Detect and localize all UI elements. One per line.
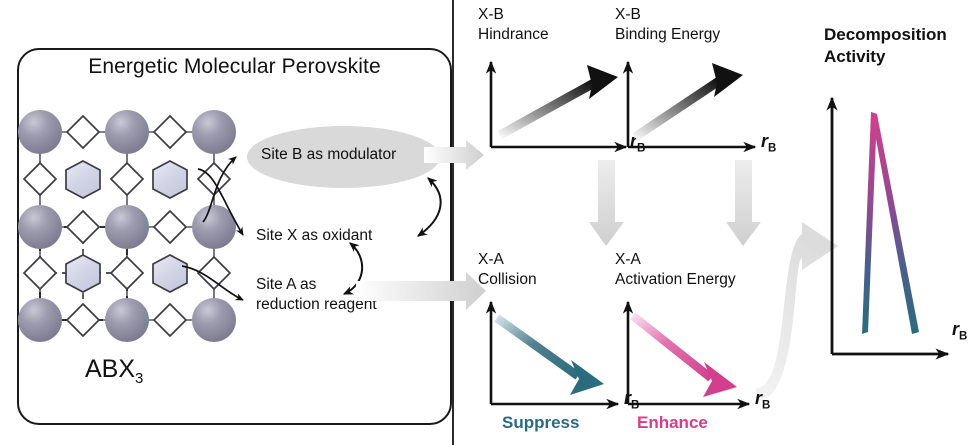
chart-xlabel-x-b-binding-energy: rB [761, 131, 776, 155]
chart-series-x-a-collision [497, 318, 604, 395]
section-divider [452, 0, 454, 445]
chart-xlabel-x-a-activation-energy: rB [755, 388, 770, 412]
perovskite-lattice [22, 108, 232, 343]
chart-series-x-a-activation-energy [633, 316, 737, 397]
chart-xlabel-decomposition-activity: rB [952, 319, 967, 343]
xlabel-symbol: r [761, 131, 768, 151]
chart-x-b-binding-energy: X-B Binding Energy [615, 5, 815, 175]
xlabel-subscript: B [768, 143, 776, 155]
chart-title-line1: X-B [478, 5, 549, 25]
chart-title-line1: X-A [478, 250, 537, 270]
chart-series-decomposition-activity [862, 112, 919, 334]
chart-title-line1: X-A [615, 250, 736, 270]
chart-title-x-b-binding-energy: X-B Binding Energy [615, 5, 720, 44]
xlabel-subscript: B [762, 400, 770, 412]
chart-title-x-b-hindrance: X-B Hindrance [478, 5, 549, 44]
chart-title-line2: Activity [824, 46, 947, 68]
site-b-label: Site B as modulator [261, 145, 396, 165]
chart-title-line2: Hindrance [478, 25, 549, 45]
chart-series-x-b-binding-energy [635, 63, 743, 137]
site-a-label: Site A as reduction reagent [256, 275, 377, 315]
chart-series-x-b-hindrance [500, 65, 618, 135]
site-x-label: Site X as oxidant [256, 226, 372, 246]
chart-title-line2: Collision [478, 270, 537, 290]
site-a-label-line1: Site A as [256, 275, 377, 295]
site-a-label-line2: reduction reagent [256, 295, 377, 315]
status-badge-enhance: Enhance [637, 413, 708, 433]
chart-title-decomposition-activity: Decomposition Activity [824, 24, 947, 67]
figure-root: Energetic Molecular Perovskite [0, 0, 976, 445]
xlabel-subscript: B [959, 331, 967, 343]
chart-title-line1: Decomposition [824, 24, 947, 46]
chart-title-line2: Activation Energy [615, 270, 736, 290]
xlabel-symbol: r [952, 319, 959, 339]
chart-title-x-a-collision: X-A Collision [478, 250, 537, 289]
chart-x-a-activation-energy: X-A Activation Energy [615, 250, 825, 445]
chart-title-line2: Binding Energy [615, 25, 720, 45]
formula-subscript: 3 [135, 370, 143, 387]
chart-axes [832, 98, 948, 354]
xlabel-symbol: r [755, 388, 762, 408]
formula-text: ABX [85, 355, 135, 383]
page-title: Energetic Molecular Perovskite [17, 55, 452, 79]
status-badge-suppress: Suppress [502, 413, 579, 433]
chart-decomposition-activity: Decomposition Activity [824, 24, 976, 404]
formula-label: ABX3 [85, 355, 143, 387]
lattice-a-spheres [18, 110, 236, 342]
chart-title-x-a-activation-energy: X-A Activation Energy [615, 250, 736, 289]
chart-axes [491, 302, 618, 404]
chart-title-line1: X-B [615, 5, 720, 25]
